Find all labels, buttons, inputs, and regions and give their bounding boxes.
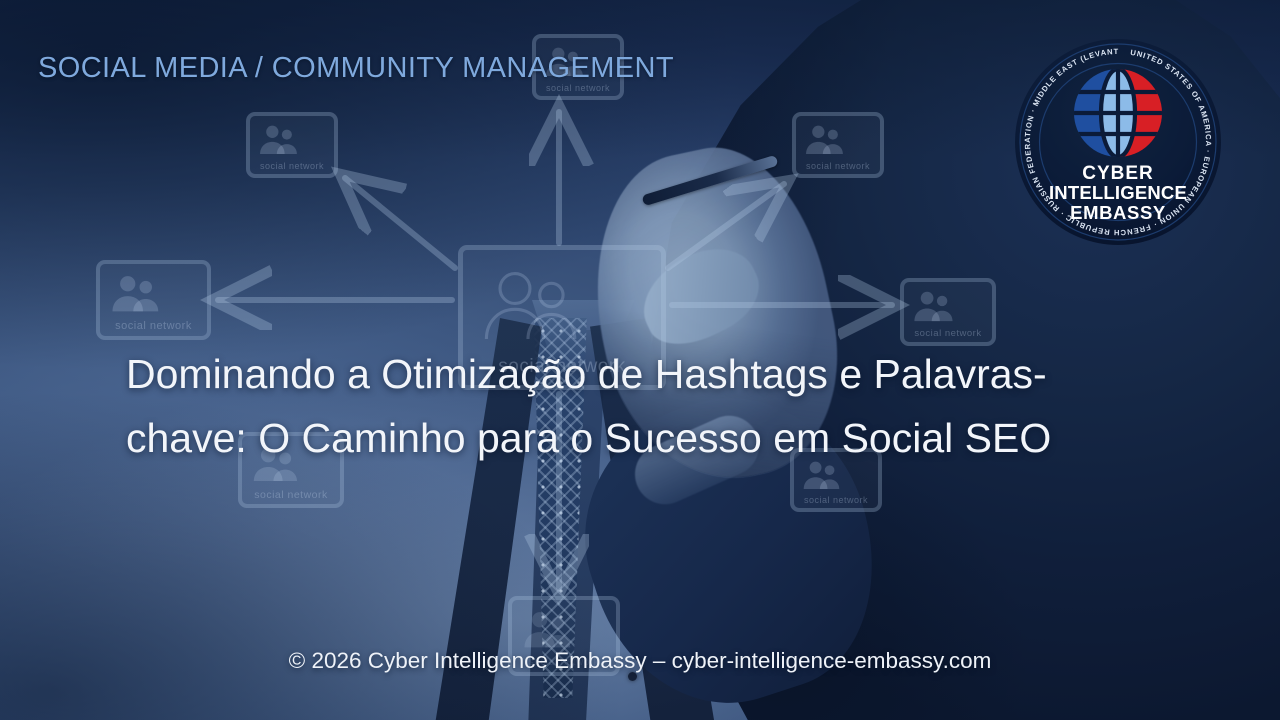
diagram-node-label: social network [904,328,992,339]
cyber-intelligence-embassy-logo: UNITED STATES OF AMERICA · EUROPEAN UNIO… [1012,36,1224,248]
diagram-node-upper-right: social network [792,112,884,178]
logo-svg: UNITED STATES OF AMERICA · EUROPEAN UNIO… [1012,36,1224,248]
logo-wordmark-line3: EMBASSY [1070,202,1166,223]
diagram-node-label: social network [242,489,340,501]
diagram-node-label: social network [794,495,878,505]
slide-title: Dominando a Otimização de Hashtags e Pal… [126,342,1086,470]
diagram-node-left: social network [96,260,211,340]
logo-wordmark-line1: CYBER [1082,163,1154,184]
diagram-node-label: social network [100,320,207,332]
diagram-node-label: social network [796,161,880,171]
diagram-node-right: social network [900,278,996,346]
arrow-center-to-upper-right [668,184,784,268]
people-icon [100,274,169,311]
slide-kicker: SOCIAL MEDIA / COMMUNITY MANAGEMENT [38,52,674,85]
logo-wordmark-line2: INTELLIGENCE [1049,182,1187,203]
people-icon [250,124,306,154]
people-icon [512,610,581,647]
diagram-node-label: social network [250,161,334,171]
presentation-slide: social network social network social net… [0,0,1280,720]
arrow-center-to-upper-left [345,178,455,268]
people-icon [904,290,962,321]
people-icon [796,124,852,154]
people-icon [463,269,593,339]
diagram-node-upper-left: social network [246,112,338,178]
slide-footer: © 2026 Cyber Intelligence Embassy – cybe… [0,648,1280,674]
